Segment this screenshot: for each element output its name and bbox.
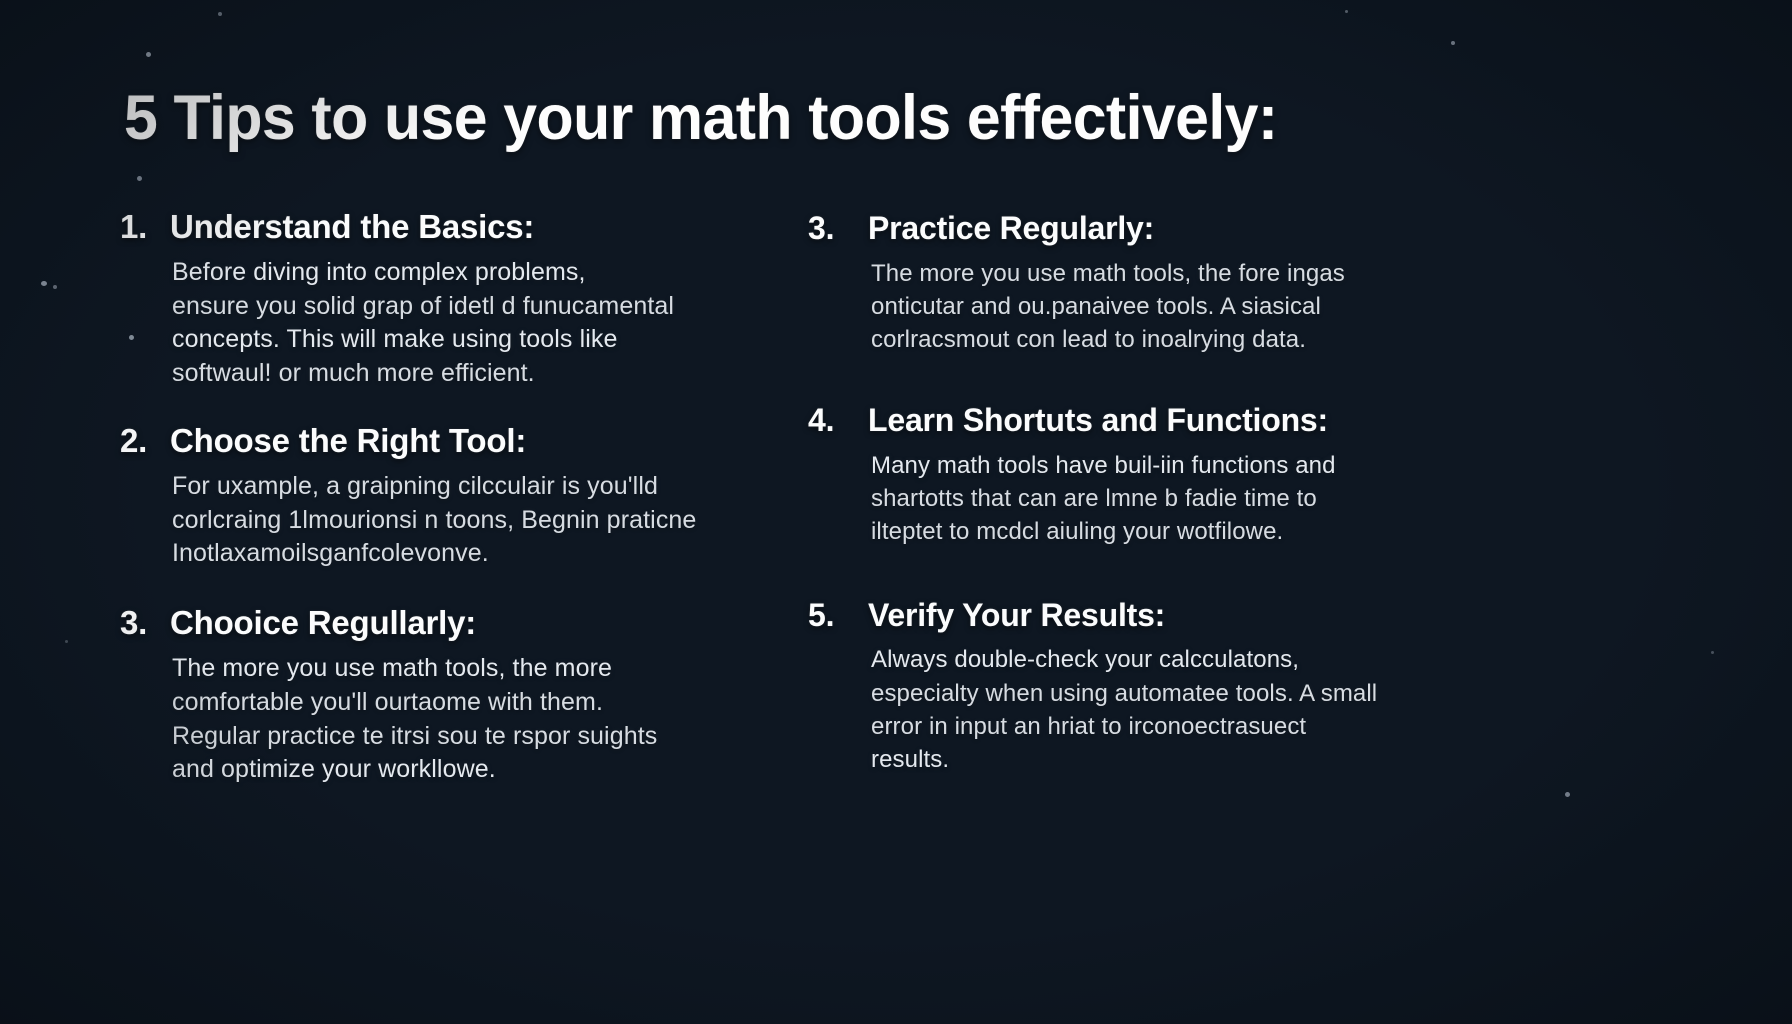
tips-column-left: 1. Understand the Basics: Before diving … xyxy=(120,208,800,787)
tip-body: The more you use math tools, the fore in… xyxy=(871,257,1508,357)
tip-body-line: The more you use math tools, the fore in… xyxy=(871,257,1508,290)
tip-body: Many math tools have buil-iin functions … xyxy=(871,449,1508,549)
tip-item: 1. Understand the Basics: Before diving … xyxy=(120,208,800,391)
tip-heading-label: Choose the Right Tool: xyxy=(170,422,526,461)
tip-body-line: Regular practice te itrsi sou te rspor s… xyxy=(172,720,800,754)
tip-heading: 2. Choose the Right Tool: xyxy=(120,422,800,461)
tip-heading-label: Practice Regularly: xyxy=(868,210,1154,248)
tip-body-line: For uxample, a graipning cilcculair is y… xyxy=(172,470,800,504)
tip-body-line: especialty when using automatee tools. A… xyxy=(871,677,1508,710)
tip-body-line: corlcraing 1lmourionsi n toons, Begnin p… xyxy=(172,504,800,538)
tip-body-line: Always double-check your calcculatons, xyxy=(871,643,1508,676)
tip-body-line: corlracsmout con lead to inoalrying data… xyxy=(871,323,1508,356)
tip-heading: 5. Verify Your Results: xyxy=(808,597,1508,635)
tip-body-line: and optimize your workllowe. xyxy=(172,753,800,787)
tip-body: For uxample, a graipning cilcculair is y… xyxy=(172,470,800,571)
tip-body-line: onticutar and ou.panaivee tools. A siasi… xyxy=(871,290,1508,323)
tip-item: 5. Verify Your Results: Always double-ch… xyxy=(808,597,1508,777)
tip-number: 2. xyxy=(120,422,170,461)
tip-body: The more you use math tools, the more co… xyxy=(172,652,800,787)
tip-heading-label: Chooice Regullarly: xyxy=(170,604,476,643)
tip-body-line: ilteptet to mcdcl aiuling your wotfilowe… xyxy=(871,515,1508,548)
infographic-poster: 5 Tips to use your math tools effectivel… xyxy=(0,0,1792,1024)
tips-column-right: 3. Practice Regularly: The more you use … xyxy=(808,208,1508,787)
tip-heading: 4. Learn Shortuts and Functions: xyxy=(808,402,1508,440)
tip-heading: 3. Practice Regularly: xyxy=(808,210,1508,248)
tip-item: 4. Learn Shortuts and Functions: Many ma… xyxy=(808,402,1508,549)
tip-body-line: ensure you solid grap of idetl d funucam… xyxy=(172,290,800,324)
tip-body: Always double-check your calcculatons, e… xyxy=(871,643,1508,776)
tip-body-line: The more you use math tools, the more xyxy=(172,652,800,686)
tip-body-line: comfortable you'll ourtaome with them. xyxy=(172,686,800,720)
tip-heading-label: Understand the Basics: xyxy=(170,208,534,247)
tip-number: 5. xyxy=(808,597,868,635)
tip-item: 2. Choose the Right Tool: For uxample, a… xyxy=(120,422,800,571)
tip-body-line: error in input an hriat to irconoectrasu… xyxy=(871,710,1508,743)
tip-body-line: Before diving into complex problems, xyxy=(172,256,800,290)
tip-body-line: Many math tools have buil-iin functions … xyxy=(871,449,1508,482)
tip-number: 4. xyxy=(808,402,868,440)
tip-heading-label: Verify Your Results: xyxy=(868,597,1165,635)
tip-body-line: shartotts that can are lmne b fadie time… xyxy=(871,482,1508,515)
tip-number: 3. xyxy=(808,210,868,248)
tips-columns: 1. Understand the Basics: Before diving … xyxy=(0,208,1792,787)
tip-heading-label: Learn Shortuts and Functions: xyxy=(868,402,1328,440)
tip-heading: 1. Understand the Basics: xyxy=(120,208,800,247)
tip-body-line: results. xyxy=(871,743,1508,776)
tip-number: 3. xyxy=(120,604,170,643)
tip-item: 3. Chooice Regullarly: The more you use … xyxy=(120,604,800,787)
tip-heading: 3. Chooice Regullarly: xyxy=(120,604,800,643)
tip-body-line: softwaul! or much more efficient. xyxy=(172,357,800,391)
tip-body: Before diving into complex problems, ens… xyxy=(172,256,800,391)
page-title: 5 Tips to use your math tools effectivel… xyxy=(124,84,1629,152)
tip-number: 1. xyxy=(120,208,170,247)
tip-body-line: concepts. This will make using tools lik… xyxy=(172,323,800,357)
tip-body-line: Inotlaxamoilsganfcolevonve. xyxy=(172,537,800,571)
tip-item: 3. Practice Regularly: The more you use … xyxy=(808,210,1508,357)
